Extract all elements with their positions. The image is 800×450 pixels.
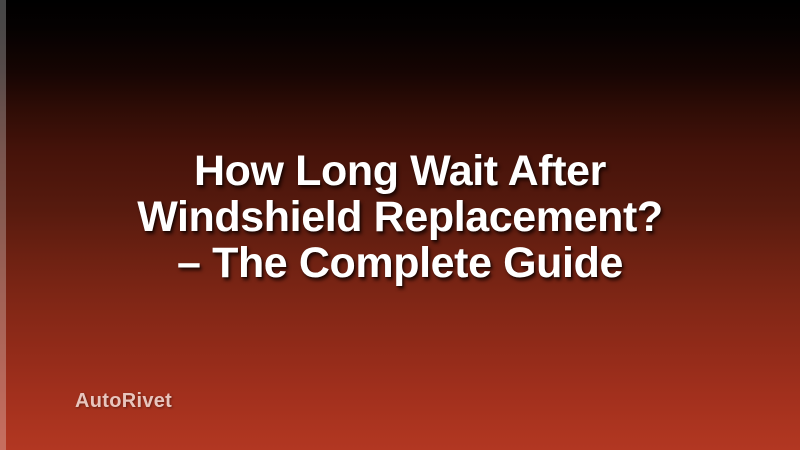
hero-title-line-2: Windshield Replacement? [40,194,760,240]
hero-title-line-3: – The Complete Guide [40,240,760,286]
hero-title: How Long Wait After Windshield Replaceme… [0,148,800,286]
hero-title-line-1: How Long Wait After [40,148,760,194]
brand-wordmark[interactable]: AutoRivet [75,390,172,412]
article-hero-banner: How Long Wait After Windshield Replaceme… [0,0,800,450]
